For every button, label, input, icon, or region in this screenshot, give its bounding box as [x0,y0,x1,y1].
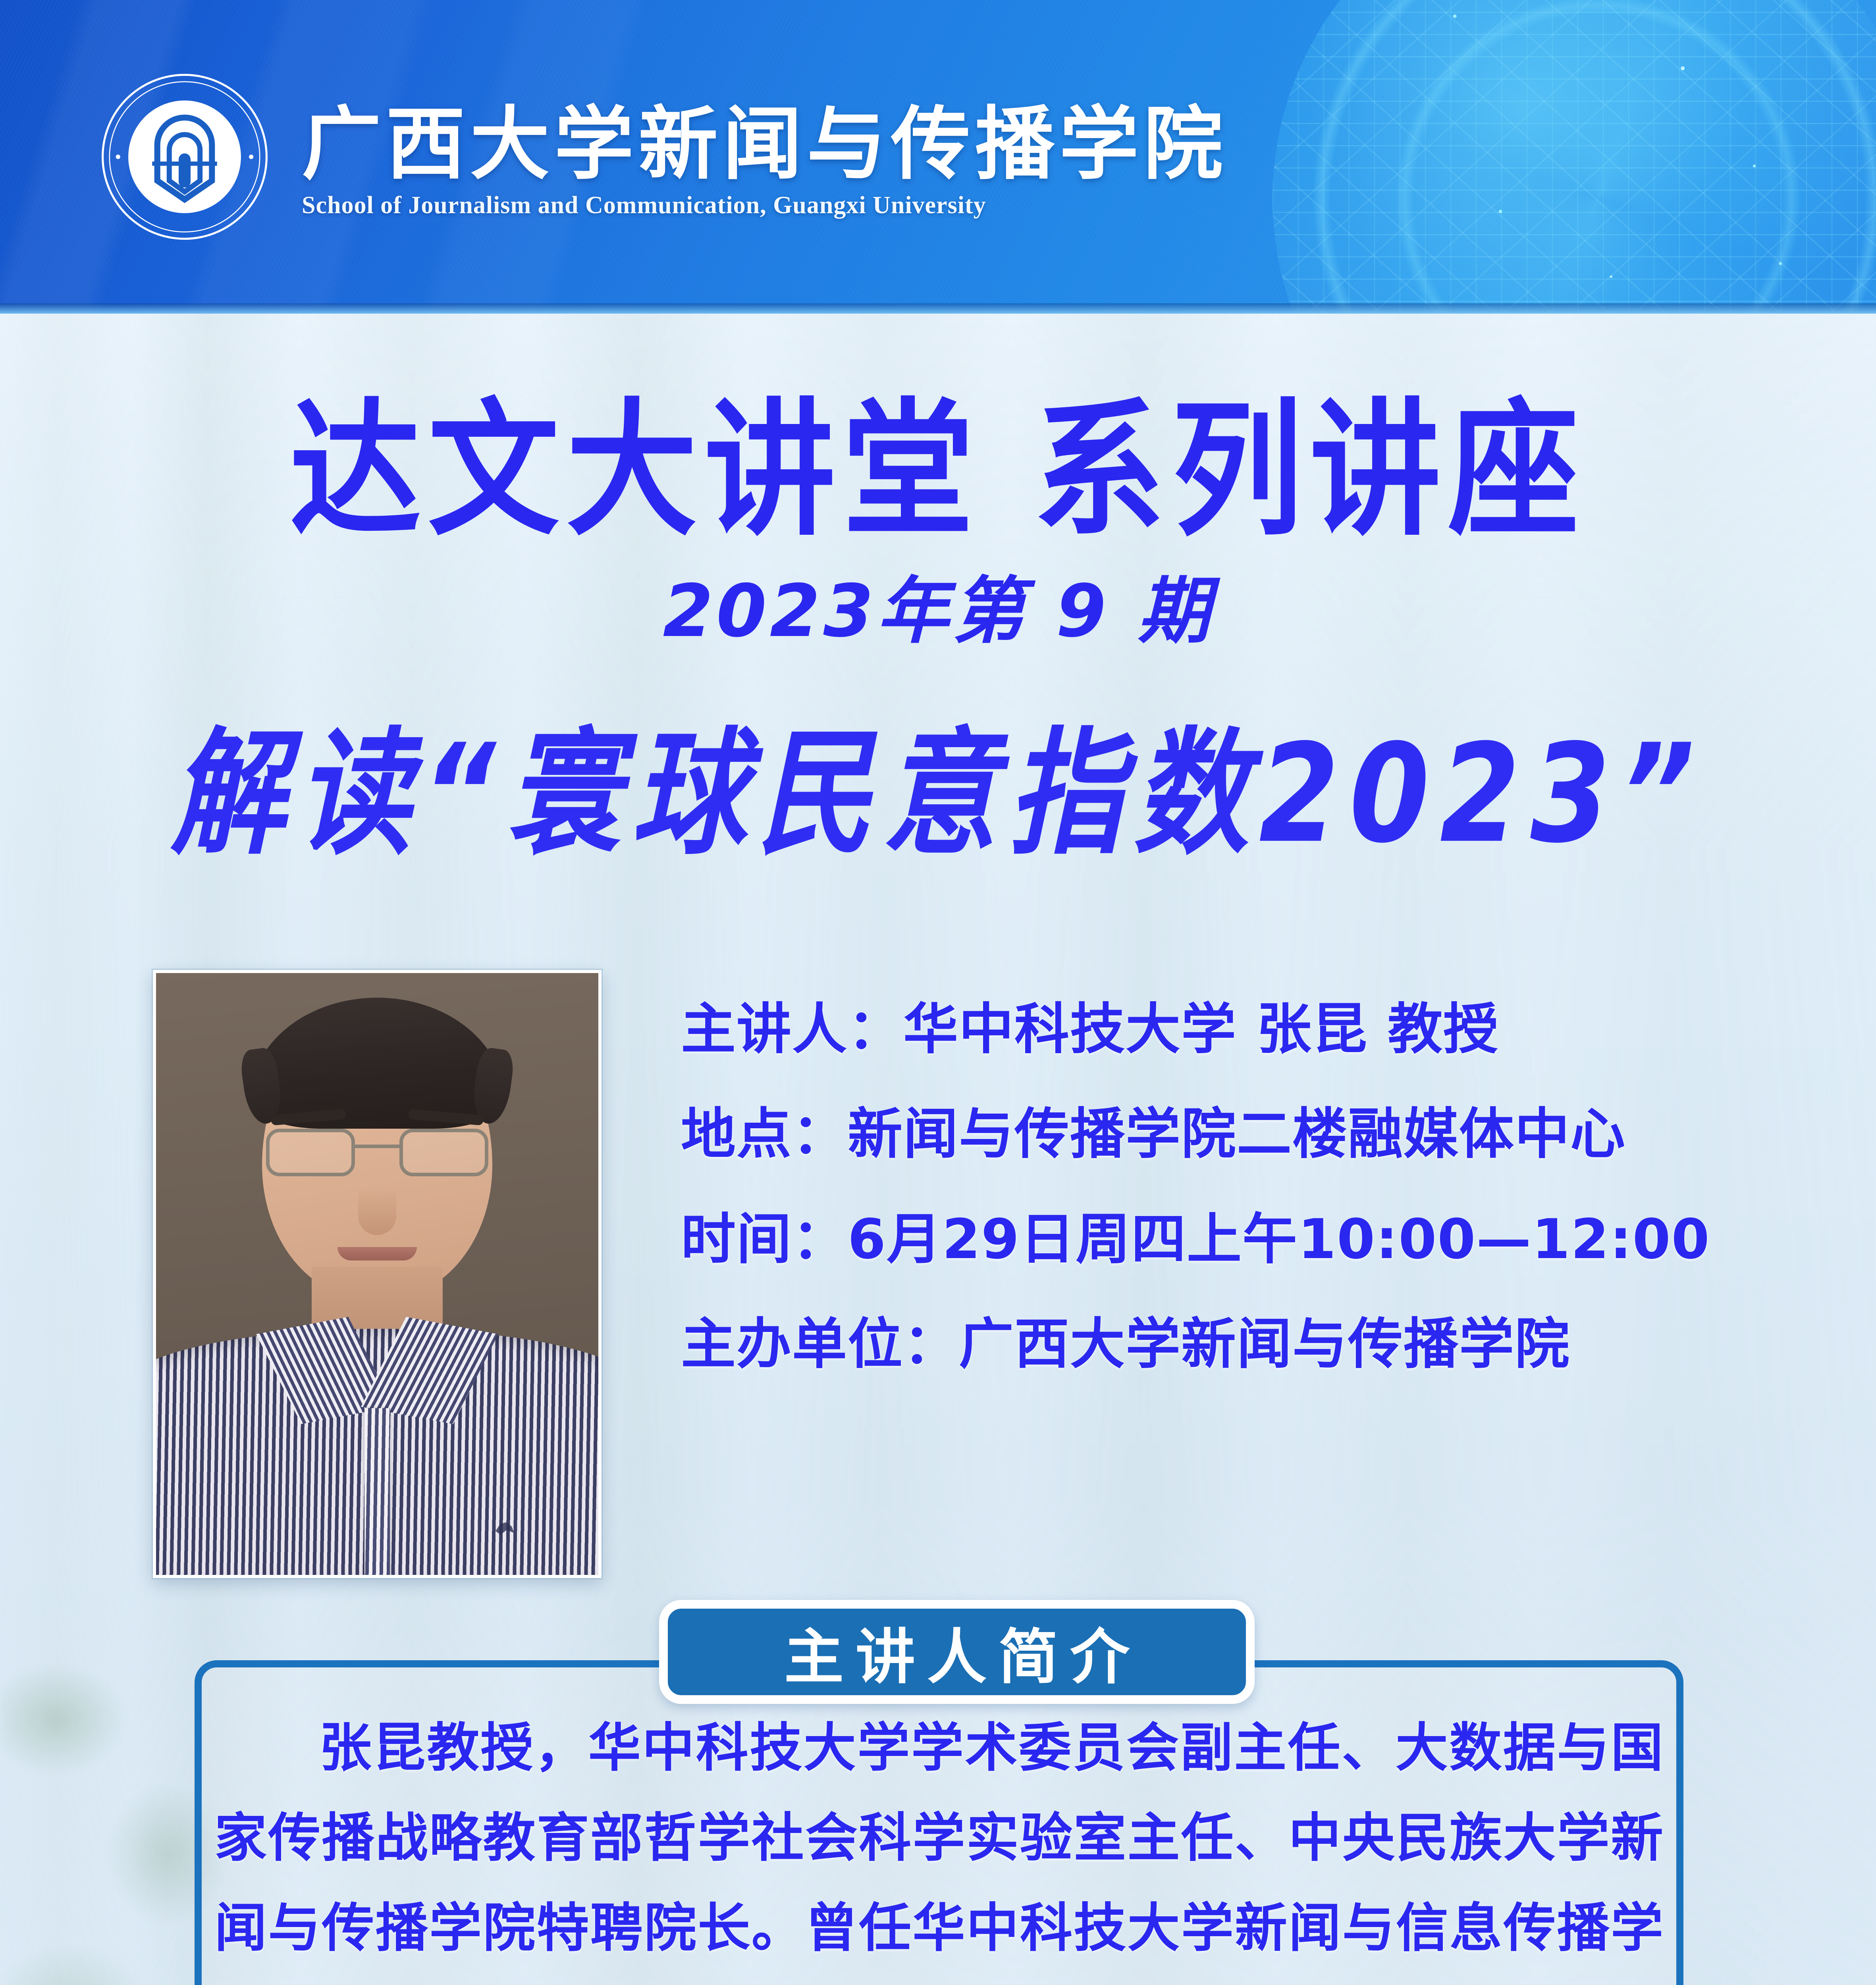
info-organizer: 主办单位：广西大学新闻与传播学院 [681,1315,1793,1373]
school-name-cn: 广西大学新闻与传播学院 [302,102,1228,187]
poster-header: 广西大学新闻与传播学院 School of Journalism and Com… [0,0,1876,314]
portrait-hair [250,998,504,1129]
info-speaker: 主讲人：华中科技大学 张昆 教授 [681,1000,1793,1058]
issue-number: 2023年第 9 期 [0,575,1876,647]
school-emblem-icon [99,71,270,242]
portrait-glasses-icon [266,1129,488,1179]
info-venue: 地点：新闻与传播学院二楼融媒体中心 [681,1105,1793,1163]
bio-paragraph-1: 张昆教授，华中科技大学学术委员会副主任、大数据与国家传播战略教育部哲学社会科学实… [214,1703,1664,1985]
portrait-shirt-placket [364,1408,390,1575]
lecture-subtitle: 解读“寰球民意指数2023” [0,727,1876,862]
bio-badge-label: 主讲人简介 [772,1609,1141,1695]
portrait-lens-left [266,1129,355,1176]
brand-lockup: 广西大学新闻与传播学院 School of Journalism and Com… [99,71,1228,242]
lecture-info-list: 主讲人：华中科技大学 张昆 教授 地点：新闻与传播学院二楼融媒体中心 时间：6月… [681,1000,1793,1373]
digital-globe-icon [1273,0,1876,314]
brand-text-group: 广西大学新闻与传播学院 School of Journalism and Com… [302,94,1228,220]
poster-root: 广西大学新闻与传播学院 School of Journalism and Com… [0,0,1876,1985]
speaker-portrait-photo [153,970,602,1578]
bio-section-badge: 主讲人简介 [659,1600,1255,1704]
portrait-mouth [337,1247,417,1260]
portrait-glasses-bridge [355,1145,399,1148]
school-name-en: School of Journalism and Communication, … [302,191,1228,220]
info-time: 时间：6月29日周四上午10:00—12:00 [681,1210,1793,1268]
portrait-lens-right [399,1129,488,1176]
title-block: 达文大讲堂 系列讲座 2023年第 9 期 [0,397,1876,647]
page-title: 达文大讲堂 系列讲座 [0,397,1876,544]
bio-text-body: 张昆教授，华中科技大学学术委员会副主任、大数据与国家传播战略教育部哲学社会科学实… [214,1703,1664,1985]
portrait-nose [358,1187,396,1235]
header-bottom-glow [0,303,1876,314]
